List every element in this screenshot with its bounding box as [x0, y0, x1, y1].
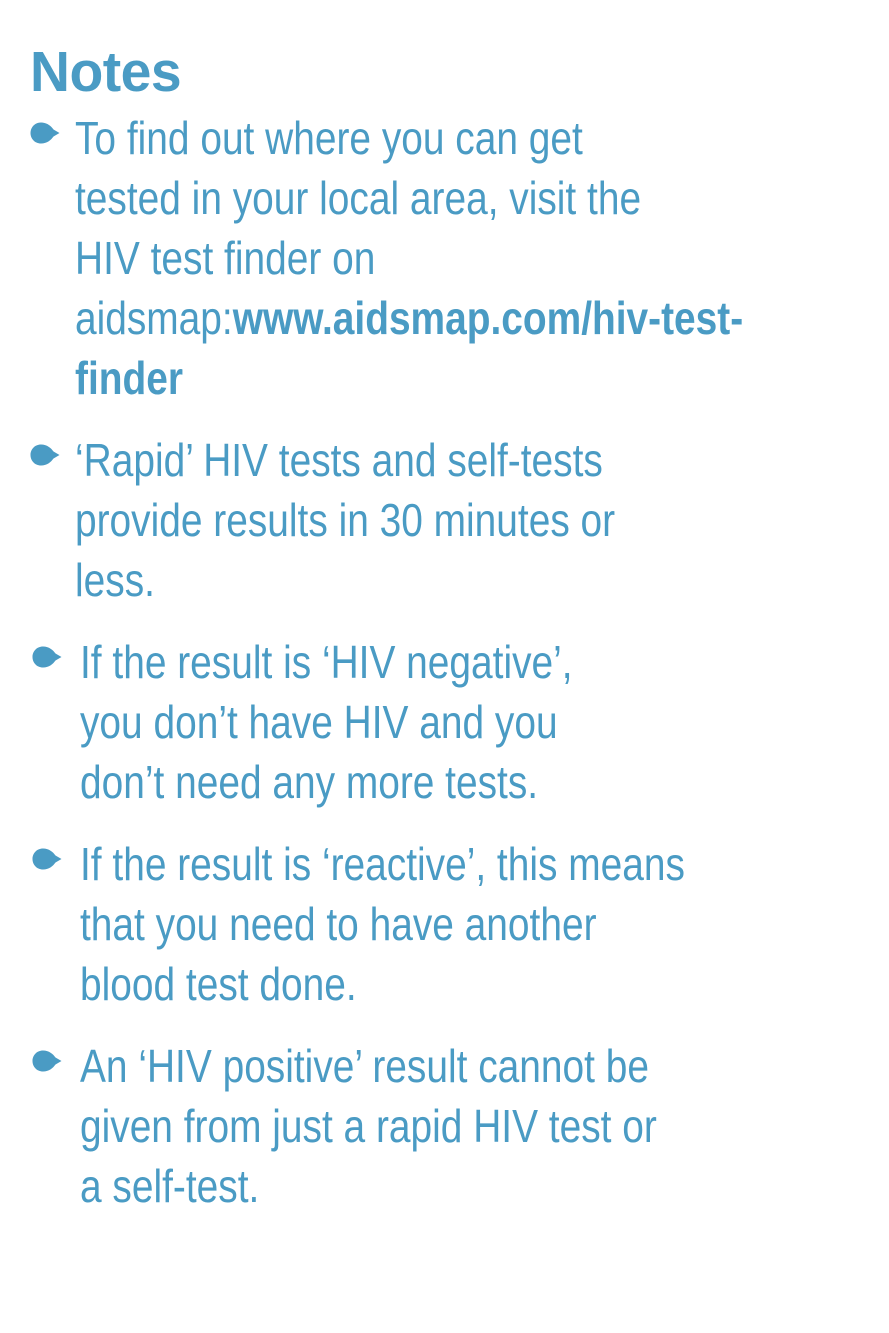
list-item: If the result is ‘reactive’, this means … [30, 834, 859, 1014]
teardrop-bullet-icon [30, 122, 60, 144]
list-item: If the result is ‘HIV negative’, you don… [30, 632, 859, 812]
list-item: ‘Rapid’ HIV tests and self-tests provide… [30, 430, 859, 610]
note-text: If the result is ‘HIV negative’, you don… [80, 632, 859, 812]
teardrop-bullet-icon [32, 1050, 62, 1072]
note-text: If the result is ‘reactive’, this means … [80, 834, 859, 1014]
teardrop-bullet-icon [32, 646, 62, 668]
teardrop-bullet-icon [30, 444, 60, 466]
notes-list: To find out where you can get tested in … [30, 108, 859, 1216]
note-text: An ‘HIV positive’ result cannot be given… [80, 1036, 859, 1216]
teardrop-bullet-icon [32, 848, 62, 870]
note-text: ‘Rapid’ HIV tests and self-tests provide… [75, 430, 859, 610]
note-text: To find out where you can get tested in … [75, 108, 859, 408]
list-item: To find out where you can get tested in … [30, 108, 859, 408]
page-title: Notes [30, 0, 834, 102]
list-item: An ‘HIV positive’ result cannot be given… [30, 1036, 859, 1216]
notes-page: Notes To find out where you can get test… [0, 0, 889, 1333]
